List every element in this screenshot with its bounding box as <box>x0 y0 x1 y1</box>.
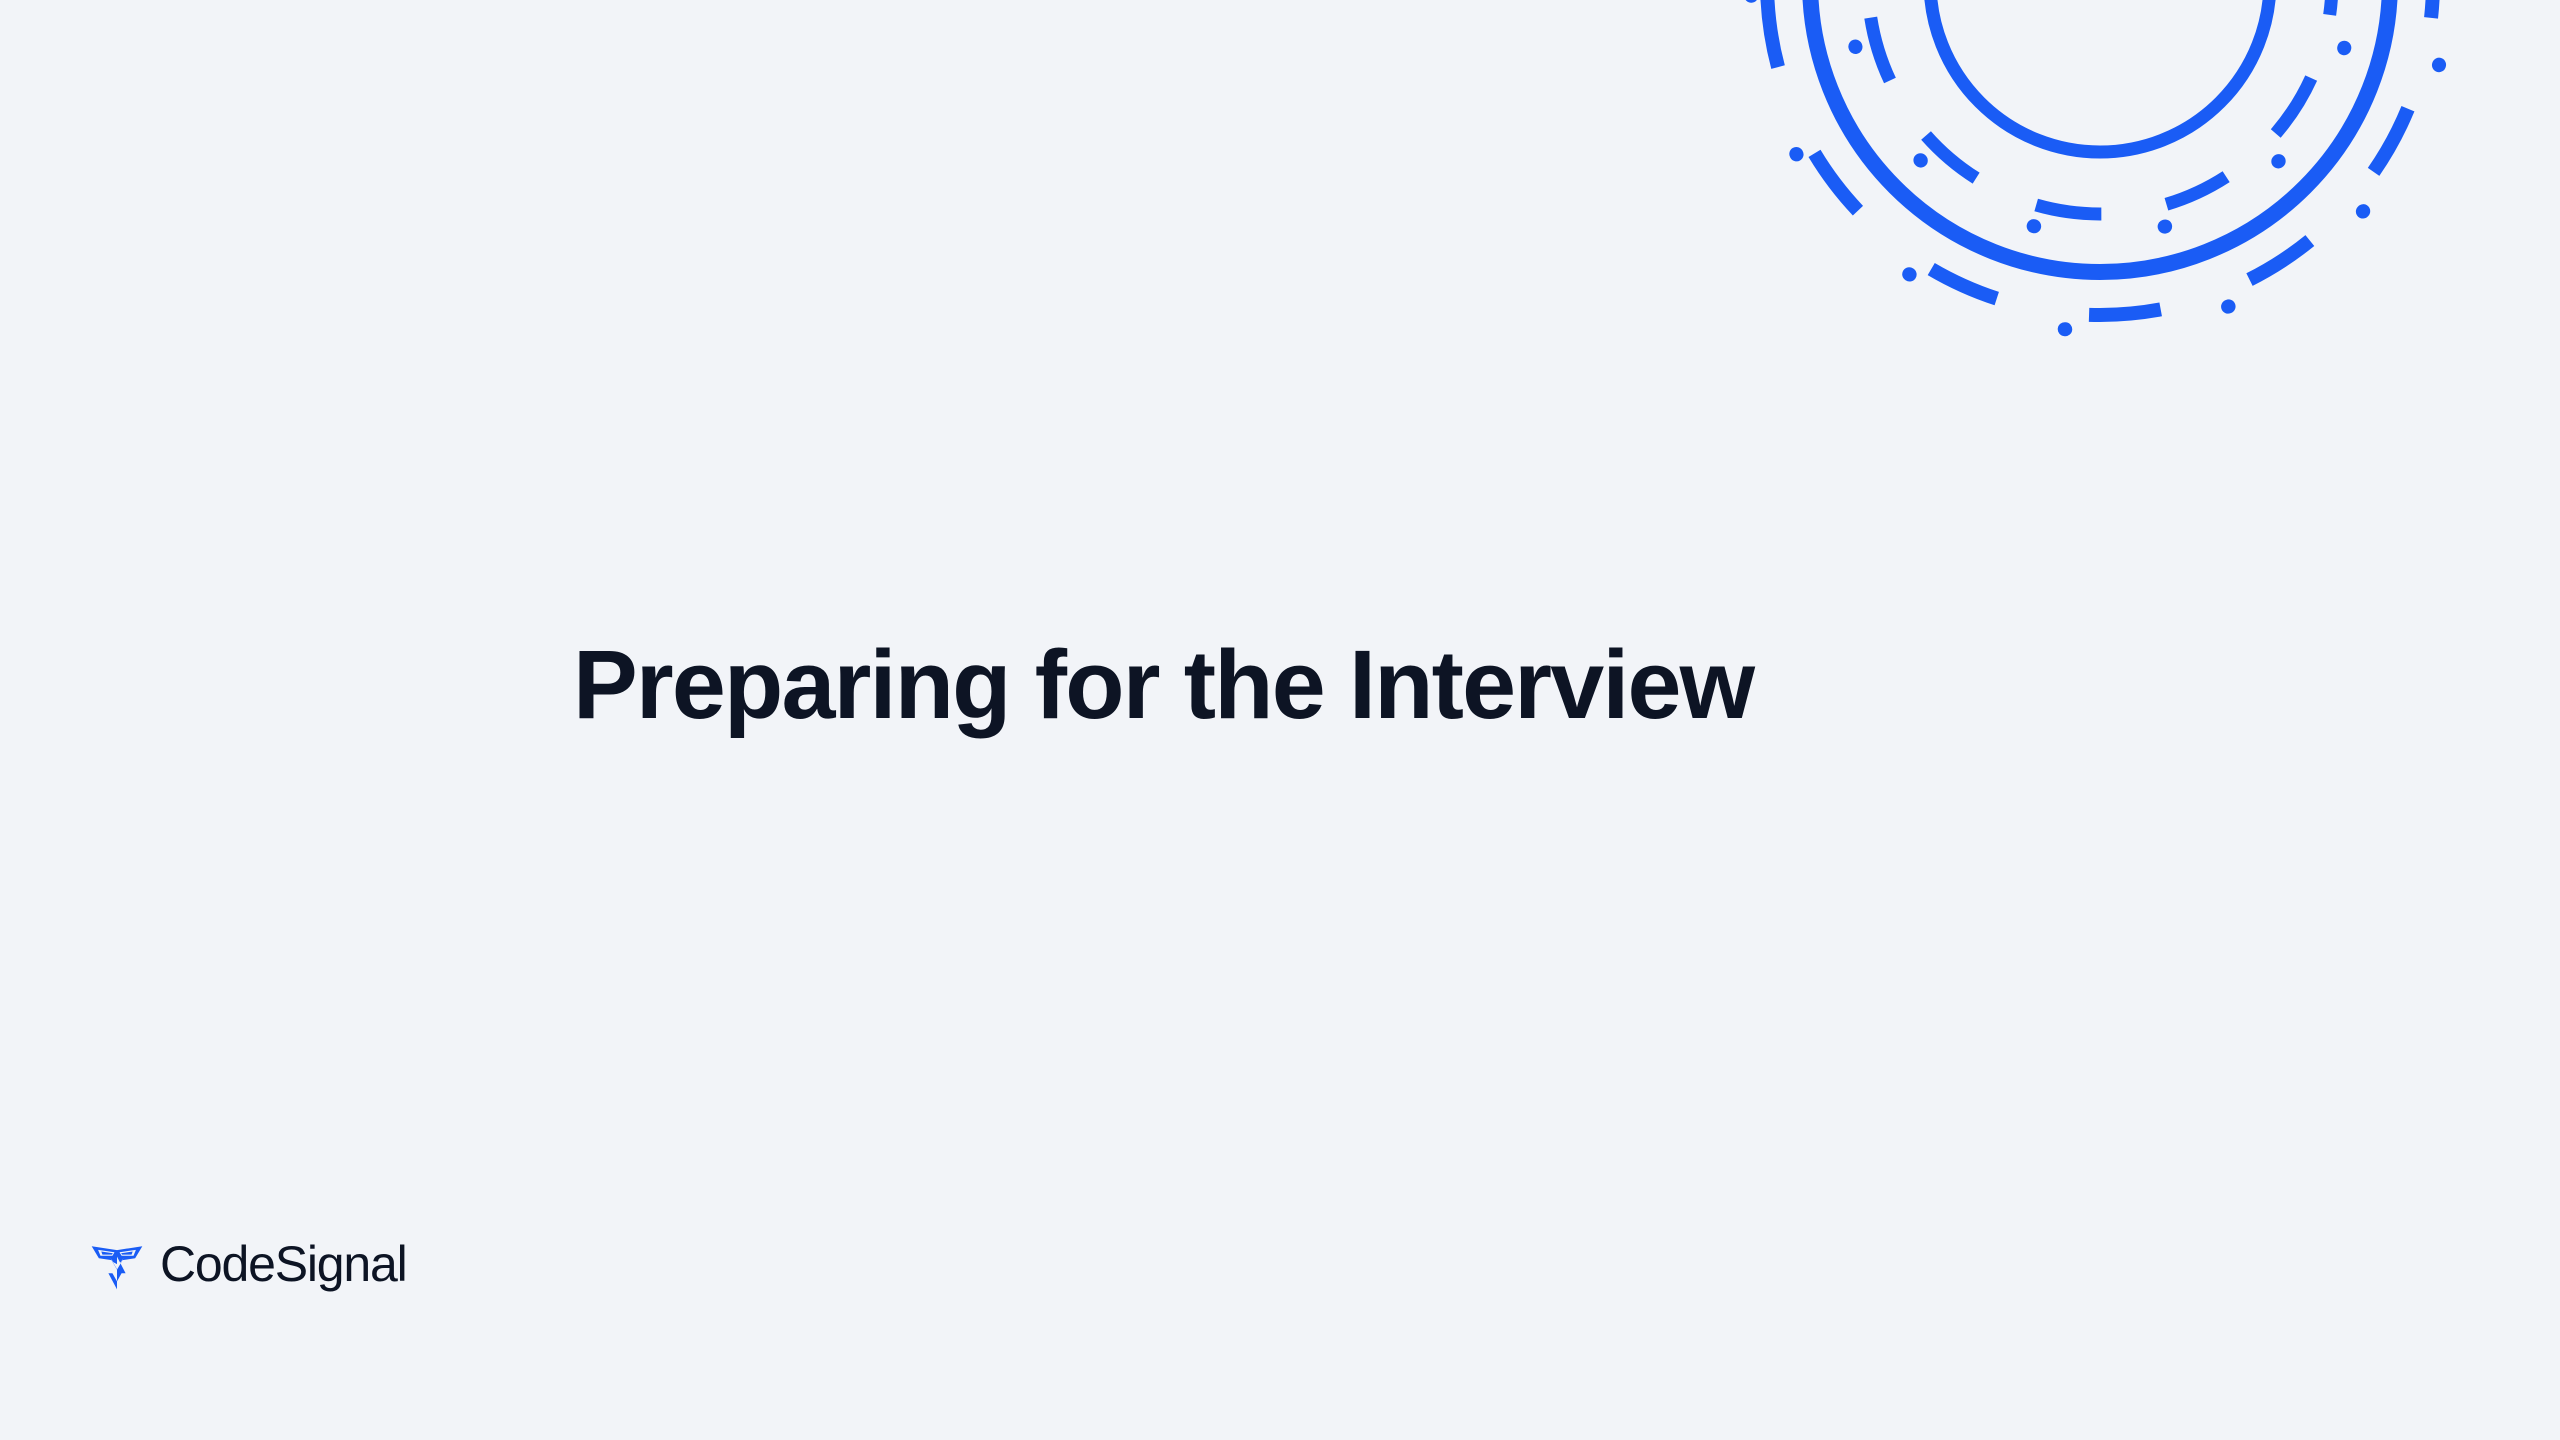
slide-canvas: Preparing for the Interview CodeSignal <box>0 0 2560 1440</box>
page-title: Preparing for the Interview <box>573 636 2273 733</box>
ring-dotted-outer <box>1751 0 2449 331</box>
ring-solid-outer <box>1810 0 2390 272</box>
codesignal-logo: CodeSignal <box>90 1233 407 1295</box>
ring-dashed-inner <box>1868 0 2332 214</box>
ring-dashed-outer <box>1767 0 2433 315</box>
codesignal-wordmark: CodeSignal <box>160 1239 407 1289</box>
title-block: Preparing for the Interview <box>573 636 2273 733</box>
ring-dotted-inner <box>1847 0 2353 235</box>
ring-solid-inner <box>1930 0 2270 152</box>
codesignal-mark-icon <box>90 1237 144 1291</box>
